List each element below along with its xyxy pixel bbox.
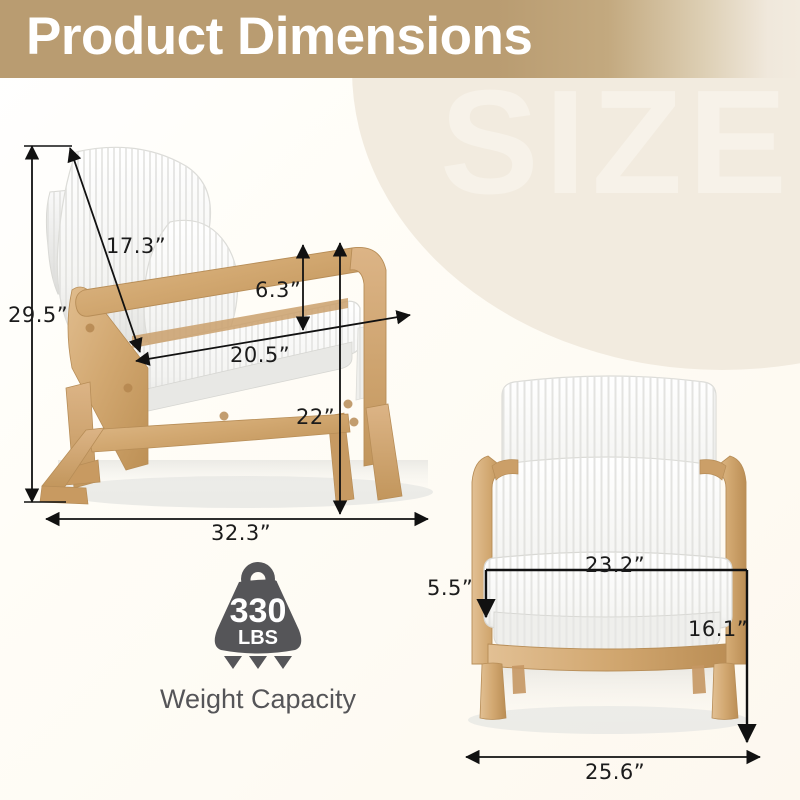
dimension-arrow-overlay [0,0,800,800]
dimension-label-overall-depth: 32.3” [211,521,271,545]
dimension-label-backrest-height: 17.3” [106,234,166,258]
dimension-label-seat-height: 16.1” [688,617,748,641]
dimension-label-overall-height: 29.5” [8,303,68,327]
dimension-label-cushion-thickness: 5.5” [427,576,473,600]
dimension-label-overall-width: 25.6” [585,760,645,784]
dimension-label-inner-seat-width: 23.2” [585,553,645,577]
dimension-label-arm-height: 22” [296,405,335,429]
product-dimensions-infographic: SIZE Product Dimensions [0,0,800,800]
dimension-label-seat-depth: 20.5” [230,343,290,367]
dimension-label-armrest-to-seat: 6.3” [255,278,301,302]
